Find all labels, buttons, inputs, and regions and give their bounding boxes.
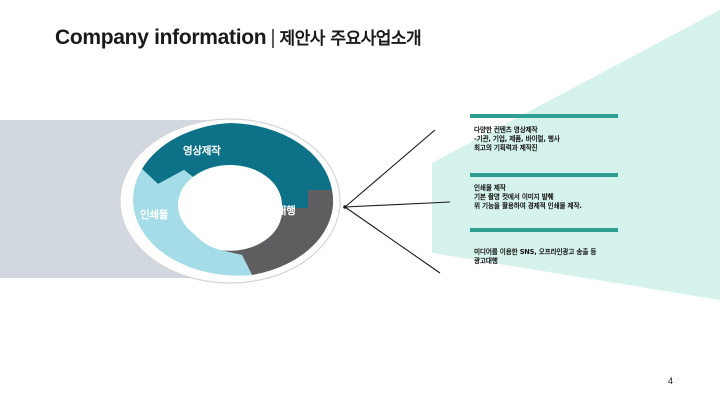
connector-origin-dot	[343, 205, 347, 209]
callout-video-line-3: 최고의 기획력과 제작진	[474, 144, 560, 153]
connector-line-video	[345, 130, 435, 207]
page-title-ko: 제안사 주요사업소개	[280, 29, 422, 49]
callout-print: 인쇄물 제작 기본 촬영 컷에서 이미지 발췌 위 기능을 활용하여 경제적 인…	[474, 184, 582, 212]
callout-ad: 미디어를 이용한 SNS, 오프라인광고 송출 등 광고대행	[474, 248, 596, 266]
page-title-en: Company information	[55, 26, 266, 49]
divider-bar-3	[470, 228, 618, 232]
callout-video: 다양한 컨텐츠 영상제작 -기관, 기업, 제품, 바이럴, 행사 최고의 기획…	[474, 126, 560, 154]
slide-canvas: Company information|제안사 주요사업소개 영상제작 광고대행…	[0, 0, 720, 405]
callout-video-line-1: 다양한 컨텐츠 영상제작	[474, 126, 560, 135]
donut-label-ad: 광고대행	[258, 203, 295, 218]
connector-line-ad	[345, 207, 440, 273]
divider-bar-1	[470, 114, 618, 118]
page-title-separator: |	[266, 27, 279, 49]
connector-lines	[330, 130, 450, 290]
page-number: 4	[668, 376, 673, 386]
page-title: Company information|제안사 주요사업소개	[55, 24, 421, 50]
callout-ad-line-1: 미디어를 이용한 SNS, 오프라인광고 송출 등	[474, 248, 596, 257]
connector-line-print	[345, 202, 450, 207]
donut-label-video: 영상제작	[183, 143, 220, 158]
callout-print-line-1: 인쇄물 제작	[474, 184, 582, 193]
callout-ad-line-2: 광고대행	[474, 257, 596, 266]
donut-diagram	[112, 112, 348, 290]
divider-bar-2	[470, 173, 618, 177]
callout-print-line-3: 위 기능을 활용하여 경제적 인쇄물 제작.	[474, 202, 582, 211]
donut-label-print: 인쇄물	[140, 207, 168, 222]
